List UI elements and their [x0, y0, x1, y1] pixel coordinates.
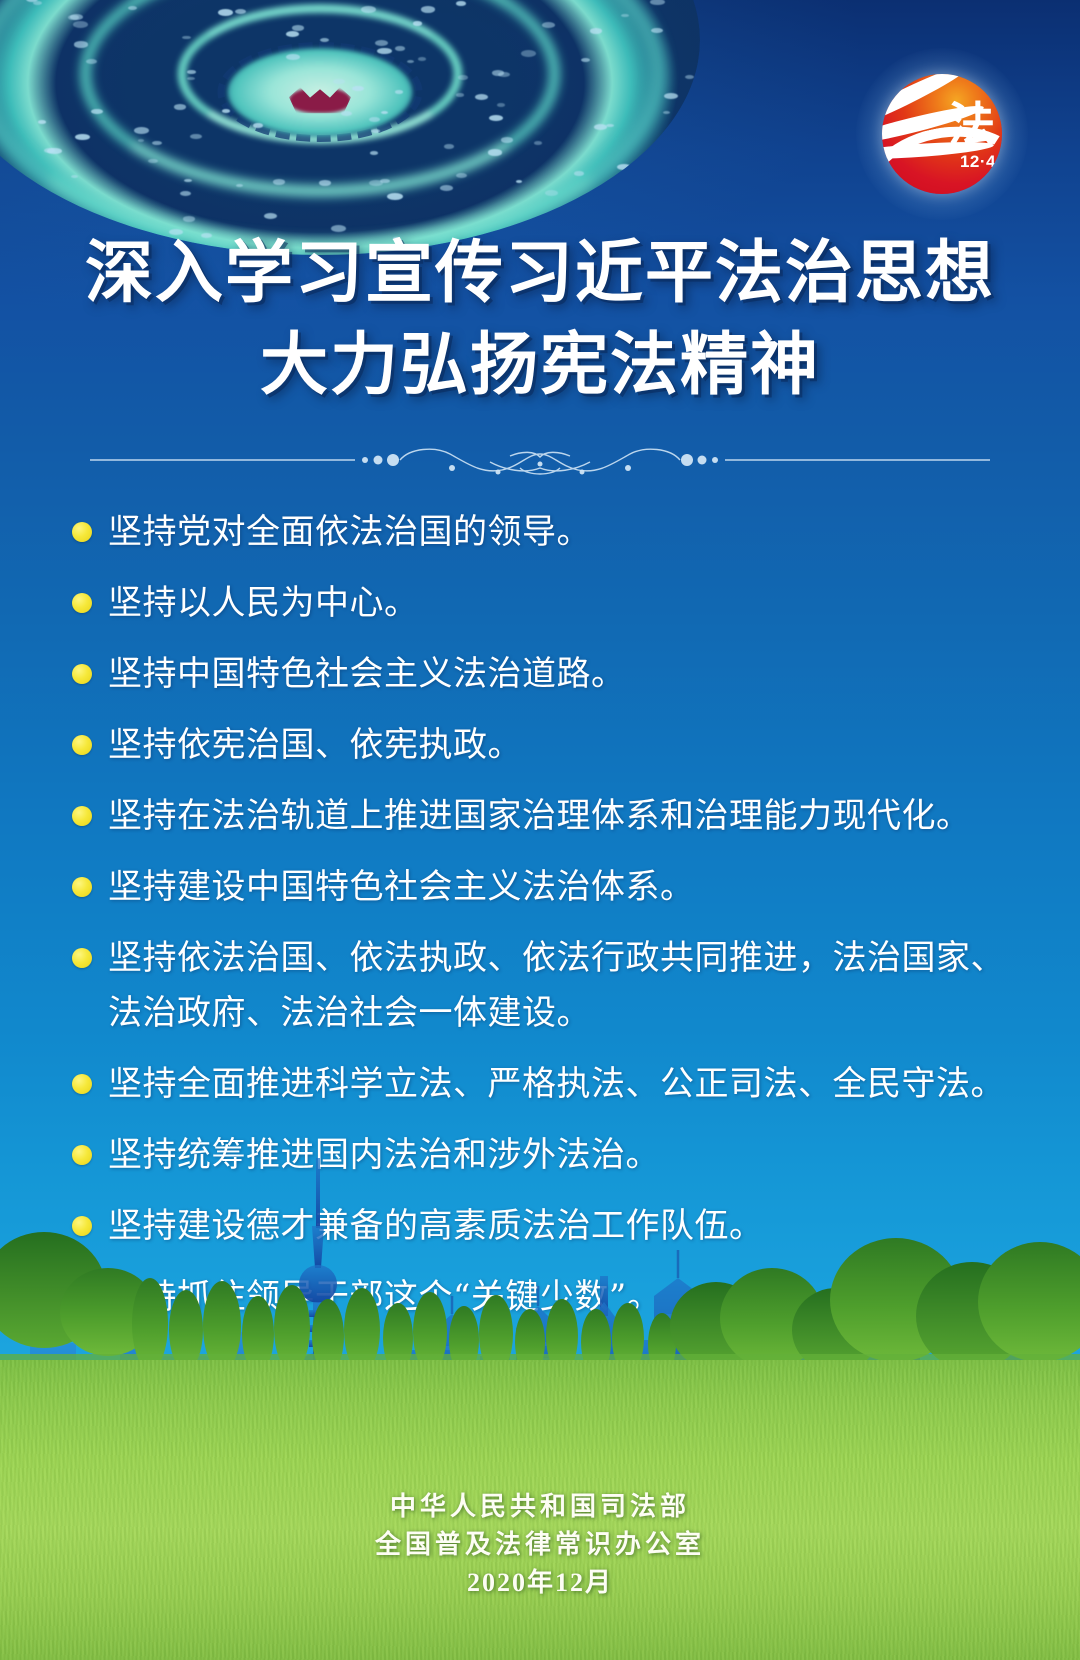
principle-text: 坚持党对全面依法治国的领导。	[108, 505, 591, 560]
ceiling-light-dots	[0, 0, 700, 255]
principle-item: 坚持党对全面依法治国的领导。	[72, 505, 1020, 560]
principle-text: 坚持建设中国特色社会主义法治体系。	[108, 860, 695, 915]
title-line-1: 深入学习宣传习近平法治思想	[0, 228, 1080, 320]
principle-text: 坚持中国特色社会主义法治道路。	[108, 647, 626, 702]
constitution-day-logo[interactable]: 法 12·4	[882, 74, 1002, 194]
poster-title: 深入学习宣传习近平法治思想 大力弘扬宪法精神	[0, 228, 1080, 412]
logo-fa-character: 法	[948, 101, 995, 148]
principle-item: 坚持全面推进科学立法、严格执法、公正司法、全民守法。	[72, 1057, 1020, 1112]
principle-text: 坚持依法治国、依法执政、依法行政共同推进，法治国家、法治政府、法治社会一体建设。	[108, 931, 1020, 1041]
bullet-dot-icon	[72, 664, 92, 684]
principle-item: 坚持以人民为中心。	[72, 576, 1020, 631]
great-hall-ceiling-graphic	[0, 0, 700, 255]
principle-text: 坚持依宪治国、依宪执政。	[108, 718, 522, 773]
title-line-2: 大力弘扬宪法精神	[0, 320, 1080, 412]
bullet-dot-icon	[72, 877, 92, 897]
principle-item: 坚持建设中国特色社会主义法治体系。	[72, 860, 1020, 915]
tree-line-graphic	[0, 1230, 1080, 1380]
footer-org-line-2: 全国普及法律常识办公室	[0, 1526, 1080, 1564]
principle-item: 坚持依宪治国、依宪执政。	[72, 718, 1020, 773]
bullet-dot-icon	[72, 948, 92, 968]
footer-date: 2020年12月	[0, 1564, 1080, 1602]
logo-date-text: 12·4	[960, 152, 996, 172]
bullet-dot-icon	[72, 806, 92, 826]
principle-item: 坚持在法治轨道上推进国家治理体系和治理能力现代化。	[72, 789, 1020, 844]
logo-circle: 法 12·4	[882, 74, 1002, 194]
footer-org-line-1: 中华人民共和国司法部	[0, 1488, 1080, 1526]
principle-item: 坚持中国特色社会主义法治道路。	[72, 647, 1020, 702]
principle-text: 坚持全面推进科学立法、严格执法、公正司法、全民守法。	[108, 1057, 1005, 1112]
bullet-dot-icon	[72, 1074, 92, 1094]
ornament-divider	[0, 434, 1080, 480]
poster-canvas: 法 12·4 深入学习宣传习近平法治思想 大力弘扬宪法精神	[0, 0, 1080, 1660]
bullet-dot-icon	[72, 593, 92, 613]
principle-text: 坚持在法治轨道上推进国家治理体系和治理能力现代化。	[108, 789, 971, 844]
principle-text: 坚持以人民为中心。	[108, 576, 419, 631]
poster-footer: 中华人民共和国司法部 全国普及法律常识办公室 2020年12月	[0, 1488, 1080, 1602]
bullet-dot-icon	[72, 522, 92, 542]
principle-item: 坚持依法治国、依法执政、依法行政共同推进，法治国家、法治政府、法治社会一体建设。	[72, 931, 1020, 1041]
bullet-dot-icon	[72, 735, 92, 755]
